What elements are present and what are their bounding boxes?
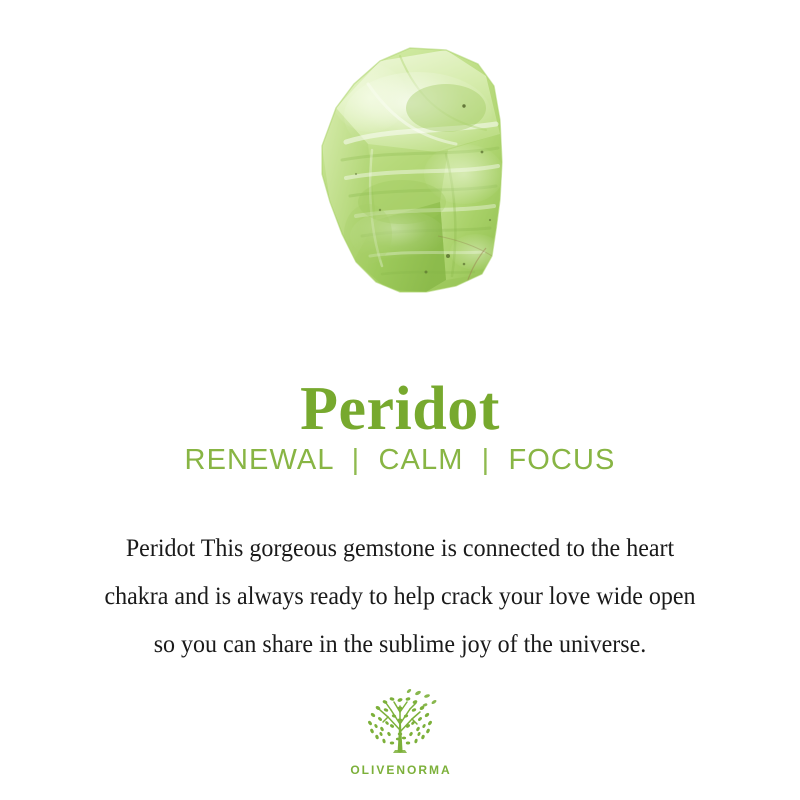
keyword-renewal: RENEWAL (185, 444, 334, 476)
brand-logo: OLIVENORMA (0, 686, 800, 777)
gemstone-figure (0, 24, 800, 314)
description-text: Peridot This gorgeous gemstone is connec… (20, 525, 780, 669)
description-line: Peridot This gorgeous gemstone is connec… (35, 525, 765, 573)
peridot-raw-crystal-image (250, 24, 550, 314)
description-line: chakra and is always ready to help crack… (35, 573, 765, 621)
gem-body (250, 24, 550, 314)
floating-leaves (406, 688, 437, 707)
olive-tree-icon (356, 686, 444, 762)
keyword-list: RENEWAL | CALM | FOCUS (0, 444, 800, 477)
gemstone-info-card: Peridot RENEWAL | CALM | FOCUS Peridot T… (0, 0, 800, 800)
keyword-separator: | (343, 444, 370, 477)
tree-base (393, 750, 407, 753)
brand-name: OLIVENORMA (0, 763, 800, 777)
keyword-separator: | (473, 444, 500, 477)
page-title: Peridot (0, 376, 800, 443)
description-line: so you can share in the sublime joy of t… (35, 621, 765, 669)
keyword-calm: CALM (378, 444, 463, 476)
keyword-focus: FOCUS (508, 444, 615, 476)
